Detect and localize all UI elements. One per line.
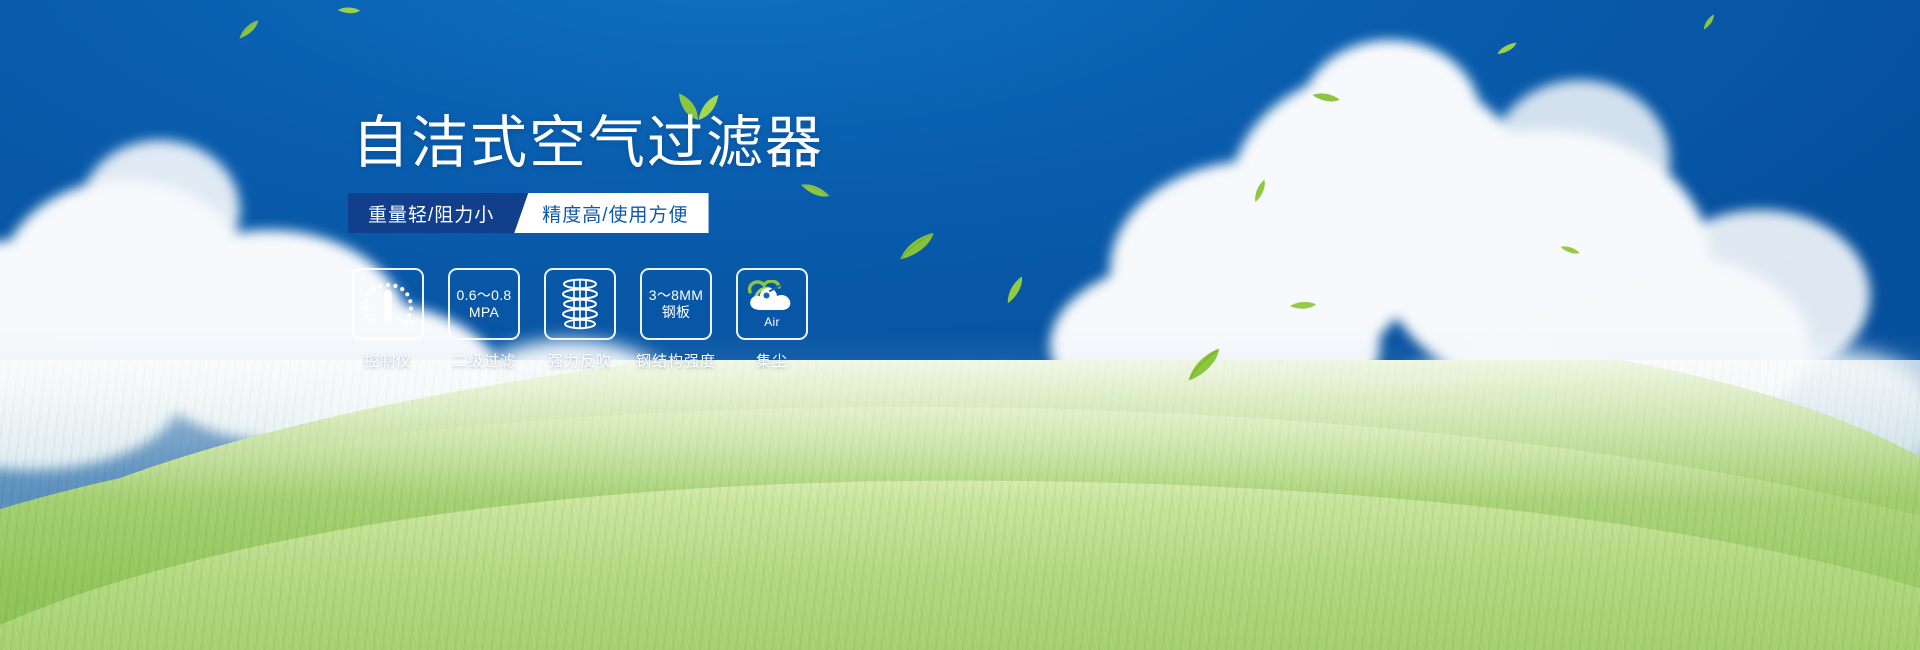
feature-box-text: 3～8MM 钢板 <box>649 287 703 321</box>
feature-box-line2: MPA <box>456 304 511 321</box>
dial-right-label: OFF <box>402 320 415 327</box>
subtitle-bar: 重量轻/阻力小 精度高/使用方便 <box>348 193 709 233</box>
product-banner: 自洁式空气过滤器 重量轻/阻力小 精度高/使用方便 <box>0 0 1920 650</box>
feature-item[interactable]: NO OFF 控制仪 <box>352 268 424 371</box>
feature-label: 集尘 <box>756 350 788 371</box>
feature-label: 控制仪 <box>364 350 412 371</box>
feature-box-line1: 3～8MM <box>649 287 703 304</box>
dial-gauge-icon: NO OFF <box>358 276 418 332</box>
feature-icon-box: NO OFF <box>352 268 424 340</box>
feature-box-line2: 钢板 <box>649 304 703 321</box>
cloud-air-icon <box>746 280 798 314</box>
feature-item[interactable]: 0.6～0.8 MPA 二级过滤 <box>448 268 520 371</box>
feature-item[interactable]: 3～8MM 钢板 钢结构强度 <box>640 268 712 371</box>
feature-item[interactable]: Air 集尘 <box>736 268 808 371</box>
subtitle-primary: 重量轻/阻力小 <box>348 193 528 233</box>
dial-left-label: NO <box>365 303 376 312</box>
feature-icon-box: 0.6～0.8 MPA <box>448 268 520 340</box>
feature-item[interactable]: 强力反吹 <box>544 268 616 371</box>
feature-label: 强力反吹 <box>548 350 612 371</box>
feature-icon-box: Air <box>736 268 808 340</box>
filter-cartridge-icon <box>554 276 606 332</box>
page-title: 自洁式空气过滤器 <box>352 115 824 172</box>
feature-box-line1: 0.6～0.8 <box>456 287 511 304</box>
subtitle-secondary: 精度高/使用方便 <box>514 193 708 233</box>
feature-list: NO OFF 控制仪 0.6～0.8 MPA 二级过滤 <box>352 268 808 371</box>
feature-icon-box <box>544 268 616 340</box>
cloud-air-label: Air <box>764 316 780 329</box>
feature-label: 钢结构强度 <box>636 350 716 371</box>
feature-box-text: 0.6～0.8 MPA <box>456 287 511 321</box>
feature-icon-box: 3～8MM 钢板 <box>640 268 712 340</box>
feature-label: 二级过滤 <box>452 350 516 371</box>
banner-content: 自洁式空气过滤器 重量轻/阻力小 精度高/使用方便 <box>0 0 1920 650</box>
